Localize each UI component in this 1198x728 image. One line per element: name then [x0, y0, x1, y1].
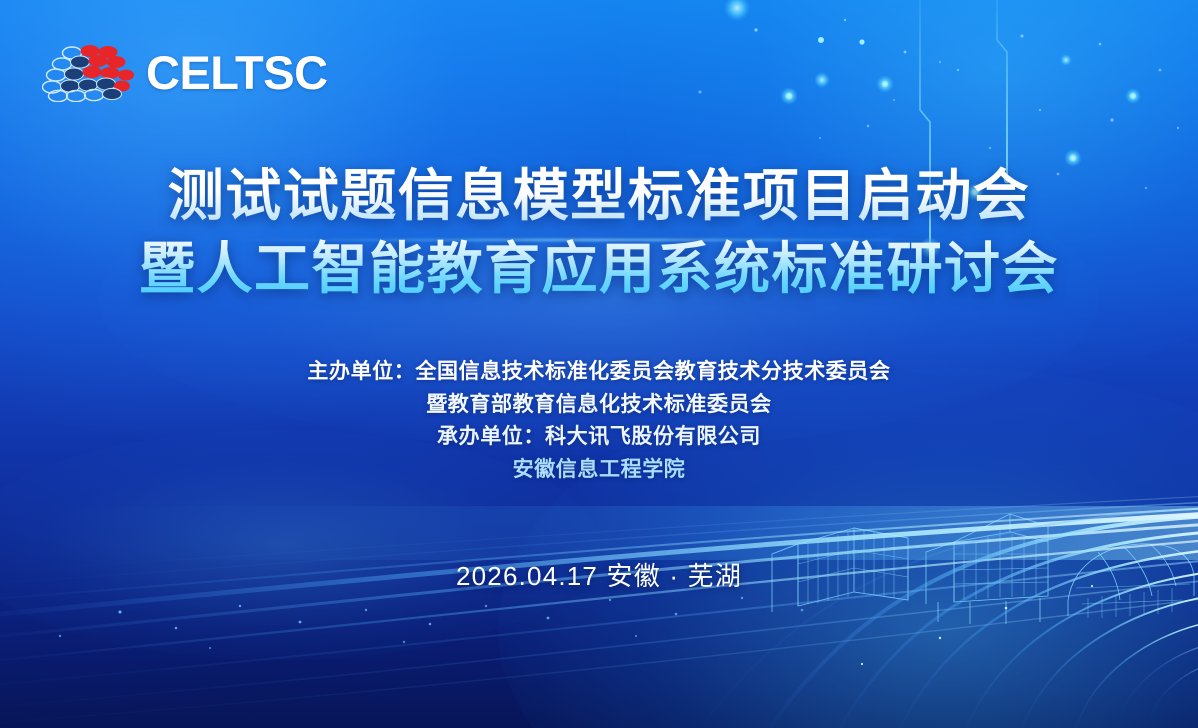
title-block: 测试试题信息模型标准项目启动会 暨人工智能教育应用系统标准研讨会	[0, 160, 1198, 306]
running-organizer-line: 承办单位：科大讯飞股份有限公司	[0, 421, 1198, 454]
main-title-line-1: 测试试题信息模型标准项目启动会	[0, 160, 1198, 233]
celtsc-dot-grid-logo-icon	[42, 42, 134, 102]
running-organizer-sub: 安徽信息工程学院	[0, 454, 1198, 487]
host-organizer-line: 主办单位：全国信息技术标准化委员会教育技术分技术委员会	[0, 356, 1198, 389]
event-date-location: 2026.04.17 安徽 · 芜湖	[0, 556, 1198, 593]
celtsc-logo[interactable]: CELTSC	[42, 42, 328, 102]
date-location-text: 2026.04.17 安徽 · 芜湖	[456, 561, 742, 591]
host-organizer-sub: 暨教育部教育信息化技术标准委员会	[0, 389, 1198, 422]
conference-banner: CELTSC 测试试题信息模型标准项目启动会 暨人工智能教育应用系统标准研讨会 …	[0, 0, 1198, 728]
organizer-block: 主办单位：全国信息技术标准化委员会教育技术分技术委员会 暨教育部教育信息化技术标…	[0, 356, 1198, 486]
celtsc-wordmark: CELTSC	[146, 49, 328, 96]
main-title-line-2: 暨人工智能教育应用系统标准研讨会	[0, 233, 1198, 306]
light-speed-trails-icon	[0, 488, 1198, 728]
